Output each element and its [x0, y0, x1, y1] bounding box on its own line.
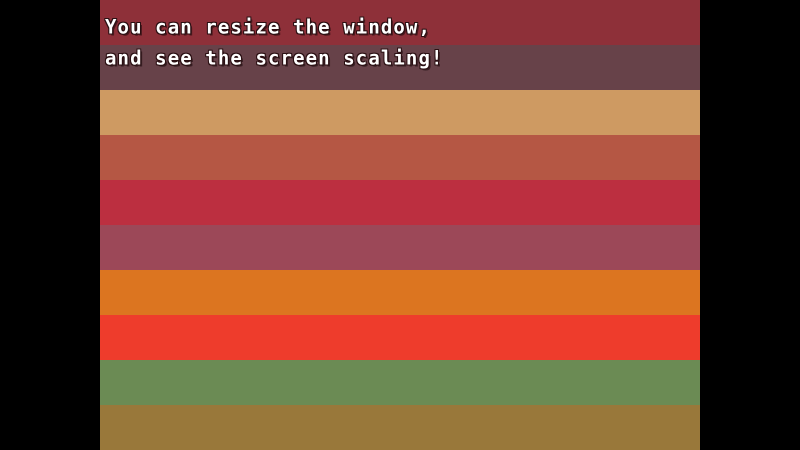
color-band [100, 90, 700, 135]
color-band [100, 135, 700, 180]
letterbox-bar-left [0, 0, 100, 450]
game-viewport[interactable]: You can resize the window, and see the s… [100, 0, 700, 450]
color-band [100, 0, 700, 45]
letterbox-bar-right [700, 0, 800, 450]
color-band [100, 270, 700, 315]
color-band [100, 360, 700, 405]
color-band-stack [100, 0, 700, 450]
color-band [100, 315, 700, 360]
app-window: You can resize the window, and see the s… [0, 0, 800, 450]
color-band [100, 225, 700, 270]
color-band [100, 180, 700, 225]
color-band [100, 405, 700, 450]
color-band [100, 45, 700, 90]
